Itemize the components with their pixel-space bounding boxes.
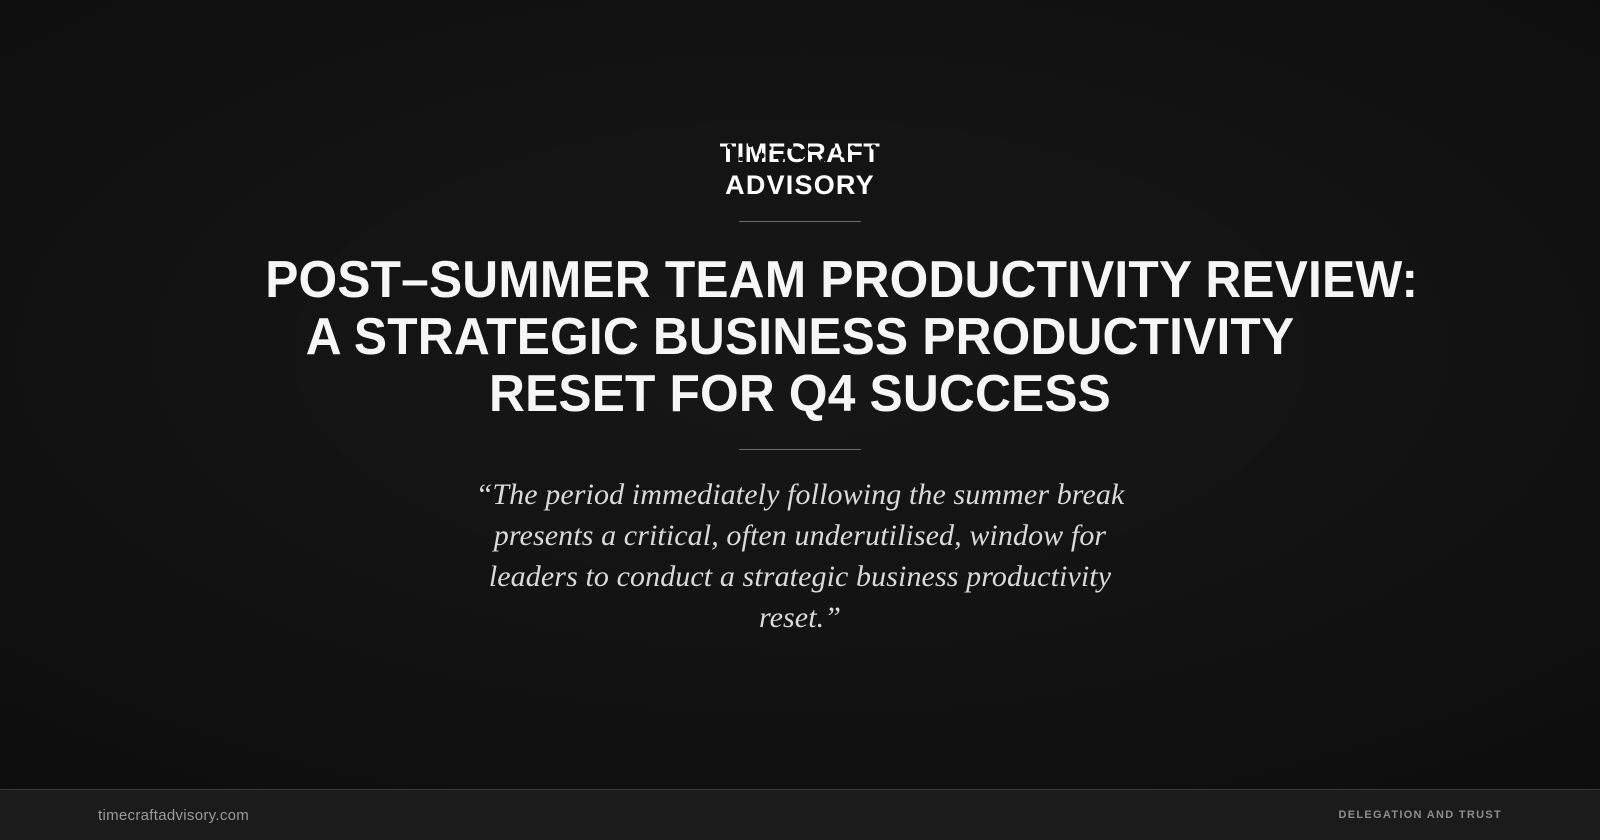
divider-under-logo [739, 221, 861, 222]
slide-pull-quote: “The period immediately following the su… [450, 474, 1150, 638]
brand-logo-primary-text: TIMECRAFT [720, 140, 880, 167]
slide-title-line-1: POST–SUMMER TEAM PRODUCTIVITY REVIEW: [265, 252, 1335, 309]
footer-topic-label: DELEGATION AND TRUST [1339, 809, 1503, 821]
slide-title-line-2: A STRATEGIC BUSINESS PRODUCTIVITY [265, 309, 1335, 366]
brand-logo: TIMECRAFT ADVISORY [720, 140, 880, 199]
slide-title-line-3: RESET FOR Q4 SUCCESS [265, 366, 1335, 423]
presentation-slide: TIMECRAFT ADVISORY POST–SUMMER TEAM PROD… [0, 0, 1600, 840]
footer-website-url: timecraftadvisory.com [98, 807, 249, 824]
slide-title: POST–SUMMER TEAM PRODUCTIVITY REVIEW: A … [265, 252, 1335, 423]
divider-under-title [739, 449, 861, 450]
slide-footer: timecraftadvisory.com DELEGATION AND TRU… [0, 789, 1600, 840]
slide-content-stage: TIMECRAFT ADVISORY POST–SUMMER TEAM PROD… [0, 0, 1600, 789]
brand-logo-secondary-text: ADVISORY [725, 172, 875, 199]
